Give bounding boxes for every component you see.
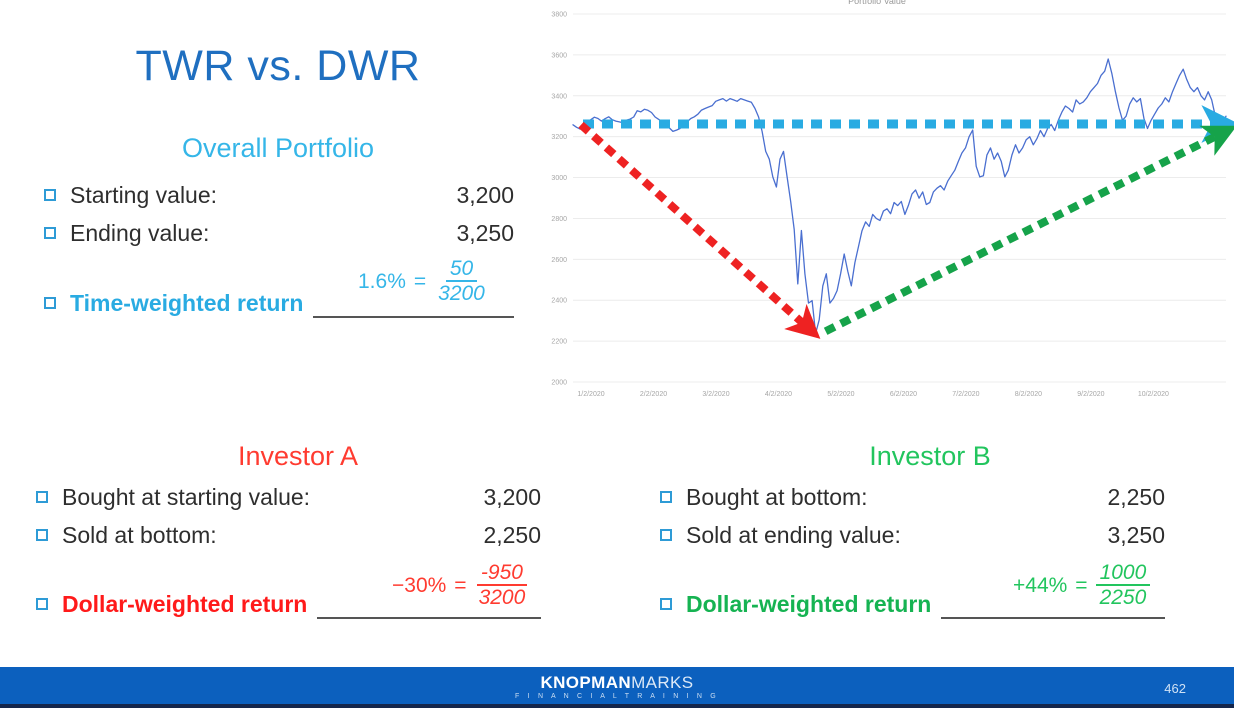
formula-numerator: 1000 xyxy=(1096,562,1151,586)
list-item-label: Sold at bottom: xyxy=(62,522,217,549)
answer-blank-line xyxy=(313,316,514,318)
svg-text:10/2/2020: 10/2/2020 xyxy=(1138,391,1169,398)
checkbox-icon xyxy=(36,598,48,610)
investor-a-heading: Investor A xyxy=(20,441,576,472)
svg-text:3000: 3000 xyxy=(551,175,567,182)
answer-blank-line xyxy=(317,617,541,619)
overall-portfolio-heading: Overall Portfolio xyxy=(0,133,556,164)
investor-b-heading: Investor B xyxy=(650,441,1210,472)
time-weighted-return-label: Time-weighted return xyxy=(70,290,303,317)
checkbox-icon xyxy=(660,491,672,503)
formula-result: 1.6% xyxy=(358,271,406,292)
formula-fraction: 1000 2250 xyxy=(1096,562,1151,608)
list-item: Sold at bottom: 2,250 xyxy=(36,516,541,554)
list-item-label: Starting value: xyxy=(70,182,217,209)
svg-text:2600: 2600 xyxy=(551,257,567,264)
svg-text:2800: 2800 xyxy=(551,216,567,223)
svg-text:9/2/2020: 9/2/2020 xyxy=(1077,391,1104,398)
list-item: Bought at starting value: 3,200 xyxy=(36,478,541,516)
answer-blank-line xyxy=(941,617,1165,619)
formula-denominator: 3200 xyxy=(434,282,489,304)
formula-fraction: 50 3200 xyxy=(434,258,489,304)
time-weighted-return-formula: 1.6% = 50 3200 xyxy=(358,258,489,304)
list-item-value: 2,250 xyxy=(1107,484,1165,511)
chart-title: Portfolio Value xyxy=(520,0,1234,6)
formula-equals: = xyxy=(1075,575,1087,596)
checkbox-icon xyxy=(36,529,48,541)
formula-denominator: 2250 xyxy=(1096,586,1151,608)
svg-text:6/2/2020: 6/2/2020 xyxy=(890,391,917,398)
dollar-weighted-return-label: Dollar-weighted return xyxy=(686,591,931,618)
formula-numerator: 50 xyxy=(446,258,477,282)
formula-denominator: 3200 xyxy=(475,586,530,608)
formula-numerator: -950 xyxy=(477,562,527,586)
list-item-label: Bought at starting value: xyxy=(62,484,310,511)
svg-text:4/2/2020: 4/2/2020 xyxy=(765,391,792,398)
formula-result: −30% xyxy=(392,575,446,596)
page-title: TWR vs. DWR xyxy=(0,42,556,91)
svg-text:5/2/2020: 5/2/2020 xyxy=(827,391,854,398)
checkbox-icon xyxy=(660,598,672,610)
footer-accent-strip xyxy=(0,704,1234,708)
list-item-label: Ending value: xyxy=(70,220,209,247)
list-item-label: Bought at bottom: xyxy=(686,484,868,511)
checkbox-icon xyxy=(44,227,56,239)
svg-text:1/2/2020: 1/2/2020 xyxy=(577,391,604,398)
list-item: Sold at ending value: 3,250 xyxy=(660,516,1165,554)
formula-equals: = xyxy=(414,271,426,292)
list-item-value: 3,250 xyxy=(1107,522,1165,549)
list-item-value: 3,200 xyxy=(456,182,514,209)
svg-text:7/2/2020: 7/2/2020 xyxy=(952,391,979,398)
svg-text:8/2/2020: 8/2/2020 xyxy=(1015,391,1042,398)
list-item-value: 3,250 xyxy=(456,220,514,247)
svg-text:3200: 3200 xyxy=(551,134,567,141)
list-item-value: 2,250 xyxy=(483,522,541,549)
svg-text:3400: 3400 xyxy=(551,93,567,100)
list-item-label: Sold at ending value: xyxy=(686,522,901,549)
checkbox-icon xyxy=(660,529,672,541)
svg-text:3600: 3600 xyxy=(551,52,567,59)
list-item: Starting value: 3,200 xyxy=(44,176,514,214)
brand-name-bold: KNOPMAN xyxy=(540,673,631,692)
list-item: Ending value: 3,250 xyxy=(44,214,514,252)
list-item-value: 3,200 xyxy=(483,484,541,511)
brand-logo: KNOPMANMARKS F I N A N C I A L T R A I N… xyxy=(0,673,1234,702)
list-item: Bought at bottom: 2,250 xyxy=(660,478,1165,516)
brand-tagline: F I N A N C I A L T R A I N I N G xyxy=(0,692,1234,702)
svg-text:2200: 2200 xyxy=(551,339,567,346)
formula-equals: = xyxy=(454,575,466,596)
dollar-weighted-return-label: Dollar-weighted return xyxy=(62,591,307,618)
checkbox-icon xyxy=(44,189,56,201)
brand-name: KNOPMANMARKS xyxy=(0,673,1234,692)
svg-text:2/2/2020: 2/2/2020 xyxy=(640,391,667,398)
slide: TWR vs. DWR Overall Portfolio Starting v… xyxy=(0,0,1234,708)
investor-b-formula: +44% = 1000 2250 xyxy=(1013,562,1150,608)
checkbox-icon xyxy=(44,297,56,309)
svg-text:2000: 2000 xyxy=(551,380,567,387)
brand-name-light: MARKS xyxy=(631,673,693,692)
footer-bar: KNOPMANMARKS F I N A N C I A L T R A I N… xyxy=(0,667,1234,708)
formula-fraction: -950 3200 xyxy=(475,562,530,608)
investor-a-formula: −30% = -950 3200 xyxy=(392,562,529,608)
chart-canvas: 3800360034003200300028002600240022002000… xyxy=(520,0,1234,408)
page-number: 462 xyxy=(1164,681,1186,696)
svg-text:3800: 3800 xyxy=(551,12,567,19)
svg-text:2400: 2400 xyxy=(551,298,567,305)
svg-text:3/2/2020: 3/2/2020 xyxy=(702,391,729,398)
checkbox-icon xyxy=(36,491,48,503)
formula-result: +44% xyxy=(1013,575,1067,596)
portfolio-value-chart: Portfolio Value 380036003400320030002800… xyxy=(520,0,1234,408)
